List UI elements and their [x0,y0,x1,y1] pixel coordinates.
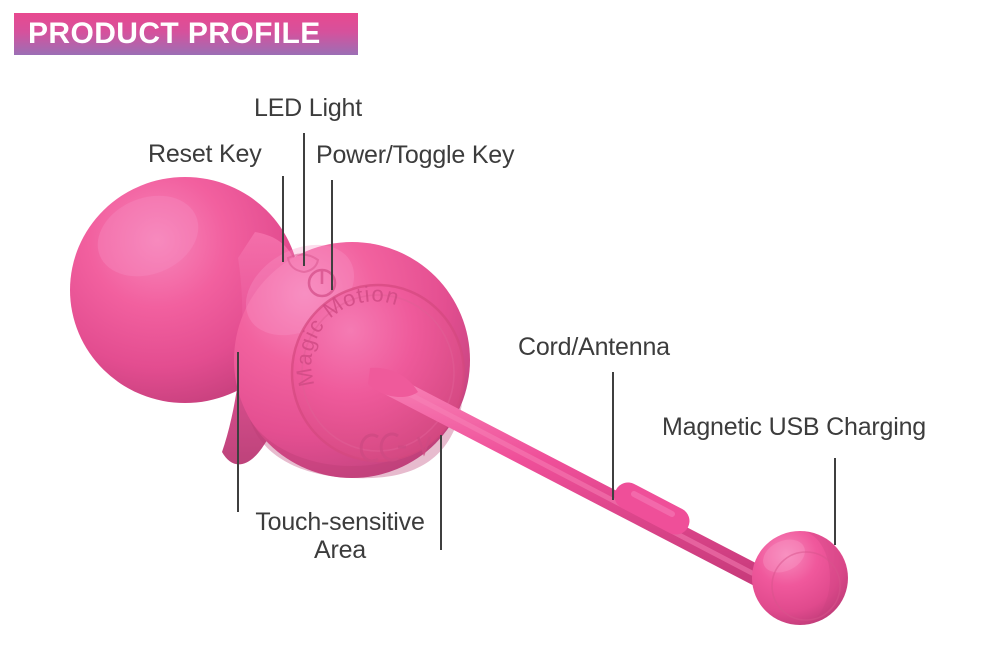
leader-line-magnetic-usb [834,458,836,545]
usb-charging-ball [752,531,848,625]
page-title: PRODUCT PROFILE [28,19,321,49]
leader-line-reset-key [282,176,284,262]
product-illustration: Magic Motion [0,0,1000,659]
callout-label-led-light: LED Light [254,94,362,122]
leader-line-cord-antenna [612,372,614,500]
leader-line-touch-sensitive-left [237,352,239,512]
product-profile-banner: PRODUCT PROFILE [14,13,358,55]
callout-label-reset-key: Reset Key [148,140,262,168]
callout-label-touch-sensitive-area: Touch-sensitive Area [242,508,438,564]
leader-line-led-light [303,133,305,266]
leader-line-touch-sensitive-right [440,435,442,550]
callout-label-power-toggle-key: Power/Toggle Key [316,141,514,169]
leader-line-power-toggle-key [331,180,333,290]
callout-label-cord-antenna: Cord/Antenna [518,333,670,361]
product-profile-diagram: Magic Motion [0,0,1000,659]
callout-label-magnetic-usb-charging: Magnetic USB Charging [662,413,926,441]
